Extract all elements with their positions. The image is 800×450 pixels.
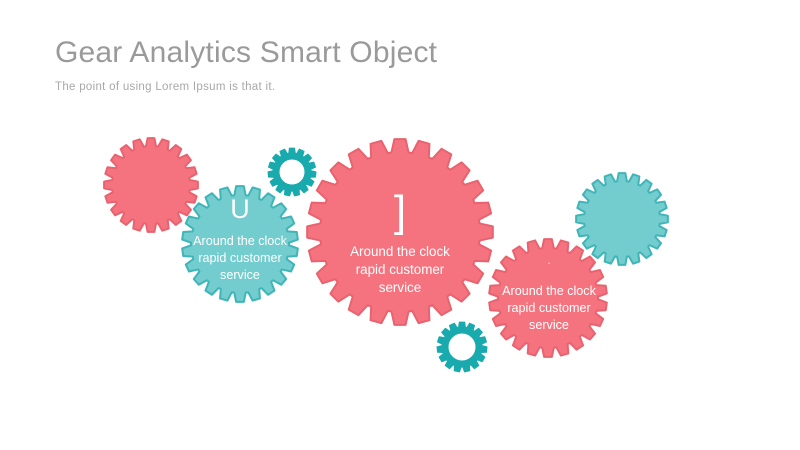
gear-teal-left-labeled[interactable]	[182, 186, 298, 302]
gear-ring-teal-bottom[interactable]	[437, 322, 487, 372]
gear-diagram	[0, 0, 800, 450]
slide-canvas: Gear Analytics Smart Object The point of…	[0, 0, 800, 450]
gear-coral-top-left[interactable]	[104, 138, 198, 232]
gear-coral-right-labeled[interactable]	[489, 239, 607, 357]
gear-teal-right[interactable]	[576, 173, 668, 265]
gear-ring-teal-top[interactable]	[268, 148, 316, 196]
gear-coral-center-labeled[interactable]	[307, 139, 493, 325]
gear-diagram-svg	[0, 0, 800, 450]
